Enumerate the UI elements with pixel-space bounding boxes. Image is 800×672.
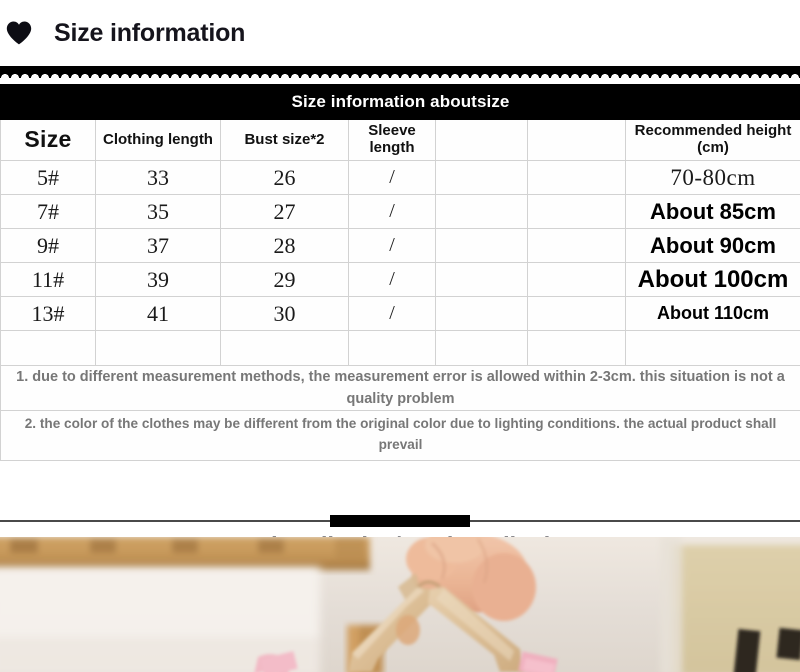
cell-recommended-height: About 90cm — [626, 229, 800, 263]
cell-empty — [528, 331, 626, 366]
cell-blank-2 — [528, 297, 626, 331]
scallop-divider — [0, 66, 800, 78]
cell-blank-2 — [528, 229, 626, 263]
cell-size: 7# — [1, 195, 96, 229]
table-row-empty — [1, 331, 800, 366]
cell-size: 13# — [1, 297, 96, 331]
cell-blank-2 — [528, 263, 626, 297]
cell-recommended-height: About 100cm — [626, 263, 800, 297]
cell-size: 5# — [1, 161, 96, 195]
cell-blank-2 — [528, 195, 626, 229]
cell-sleeve-length: / — [349, 263, 436, 297]
cell-blank-1 — [436, 263, 528, 297]
size-table: Size information aboutsize Size Clothing… — [0, 84, 800, 461]
cell-bust-size: 27 — [221, 195, 349, 229]
cell-bust-size: 28 — [221, 229, 349, 263]
cell-sleeve-length: / — [349, 229, 436, 263]
cell-recommended-height: About 85cm — [626, 195, 800, 229]
cell-clothing-length: 37 — [96, 229, 221, 263]
column-header-blank-1 — [436, 120, 528, 161]
cell-empty — [436, 331, 528, 366]
cell-clothing-length: 41 — [96, 297, 221, 331]
cell-sleeve-length: / — [349, 195, 436, 229]
cell-blank-2 — [528, 161, 626, 195]
cell-bust-size: 30 — [221, 297, 349, 331]
column-header-recommended-height: Recommended height (cm) — [626, 120, 800, 161]
cell-blank-1 — [436, 195, 528, 229]
color-note: 2. the color of the clothes may be diffe… — [1, 411, 800, 461]
cell-clothing-length: 33 — [96, 161, 221, 195]
table-row: 9# 37 28 / About 90cm — [1, 229, 800, 263]
table-note-row: 2. the color of the clothes may be diffe… — [1, 411, 800, 461]
cell-blank-1 — [436, 297, 528, 331]
column-header-bust-size: Bust size*2 — [221, 120, 349, 161]
section-divider-badge — [330, 515, 470, 527]
size-table-container: Size information aboutsize Size Clothing… — [0, 84, 800, 461]
cell-sleeve-length: / — [349, 161, 436, 195]
size-table-banner-title: Size information aboutsize — [1, 85, 800, 120]
column-header-sleeve-length: Sleeve length — [349, 120, 436, 161]
table-note-row: 1. due to different measurement methods,… — [1, 366, 800, 411]
column-header-blank-2 — [528, 120, 626, 161]
table-row: 7# 35 27 / About 85cm — [1, 195, 800, 229]
table-row: 13# 41 30 / About 110cm — [1, 297, 800, 331]
cell-bust-size: 26 — [221, 161, 349, 195]
measurement-note: 1. due to different measurement methods,… — [1, 366, 800, 411]
cell-empty — [1, 331, 96, 366]
cell-blank-1 — [436, 161, 528, 195]
cell-recommended-height: About 110cm — [626, 297, 800, 331]
heart-icon — [6, 20, 32, 46]
table-header-row: Size Clothing length Bust size*2 Sleeve … — [1, 120, 800, 161]
cell-clothing-length: 35 — [96, 195, 221, 229]
table-row: 5# 33 26 / 70-80cm — [1, 161, 800, 195]
product-photo-image — [0, 537, 800, 672]
cell-clothing-length: 39 — [96, 263, 221, 297]
cell-bust-size: 29 — [221, 263, 349, 297]
table-row: 11# 39 29 / About 100cm — [1, 263, 800, 297]
cell-empty — [626, 331, 800, 366]
page-header: Size information — [0, 0, 800, 66]
cell-empty — [221, 331, 349, 366]
column-header-clothing-length: Clothing length — [96, 120, 221, 161]
column-header-size: Size — [1, 120, 96, 161]
cell-size: 9# — [1, 229, 96, 263]
cell-empty — [349, 331, 436, 366]
page-title: Size information — [54, 19, 245, 48]
cell-recommended-height: 70-80cm — [626, 161, 800, 195]
cell-size: 11# — [1, 263, 96, 297]
table-banner-row: Size information aboutsize — [1, 85, 800, 120]
cell-sleeve-length: / — [349, 297, 436, 331]
cell-empty — [96, 331, 221, 366]
cell-blank-1 — [436, 229, 528, 263]
product-photo — [0, 537, 800, 672]
